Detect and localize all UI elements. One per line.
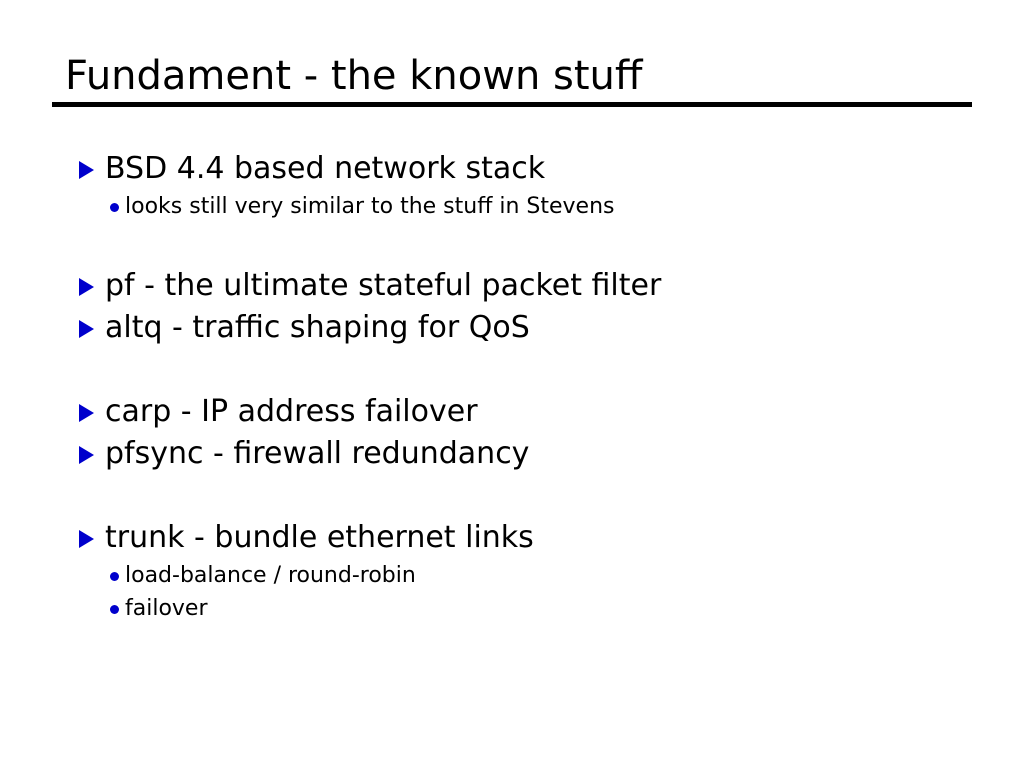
- bullet-group-1: BSD 4.4 based network stack looks still …: [0, 148, 1024, 223]
- bullet-item-carp: carp - IP address failover: [0, 391, 1024, 433]
- bullet-label: pf - the ultimate stateful packet filter: [105, 268, 661, 303]
- bullet-label: BSD 4.4 based network stack: [105, 151, 545, 186]
- triangle-bullet-icon: [79, 320, 94, 338]
- triangle-bullet-icon: [79, 278, 94, 296]
- bullet-item-pf: pf - the ultimate stateful packet filter: [0, 265, 1024, 307]
- slide-canvas: Fundament - the known stuff BSD 4.4 base…: [0, 0, 1024, 768]
- dot-bullet-icon: [110, 605, 119, 614]
- triangle-bullet-icon: [79, 161, 94, 179]
- bullet-group-3: carp - IP address failover pfsync - fire…: [0, 391, 1024, 475]
- bullet-label: carp - IP address failover: [105, 394, 478, 429]
- triangle-bullet-icon: [79, 404, 94, 422]
- dot-bullet-icon: [110, 203, 119, 212]
- sub-bullet-list-4: load-balance / round-robin failover: [0, 559, 1024, 625]
- sub-bullet-item-failover: failover: [0, 592, 1024, 625]
- slide-body: BSD 4.4 based network stack looks still …: [0, 148, 1024, 625]
- sub-bullet-label: load-balance / round-robin: [125, 563, 416, 588]
- bullet-item-pfsync: pfsync - firewall redundancy: [0, 433, 1024, 475]
- bullet-item-trunk: trunk - bundle ethernet links: [0, 517, 1024, 559]
- triangle-bullet-icon: [79, 446, 94, 464]
- sub-bullet-label: looks still very similar to the stuff in…: [125, 194, 615, 219]
- bullet-label: pfsync - firewall redundancy: [105, 436, 529, 471]
- bullet-label: trunk - bundle ethernet links: [105, 520, 534, 555]
- bullet-item-altq: altq - traffic shaping for QoS: [0, 307, 1024, 349]
- sub-bullet-label: failover: [125, 596, 208, 621]
- dot-bullet-icon: [110, 572, 119, 581]
- sub-bullet-list-1: looks still very similar to the stuff in…: [0, 190, 1024, 223]
- bullet-group-4: trunk - bundle ethernet links load-balan…: [0, 517, 1024, 625]
- sub-bullet-item-load-balance: load-balance / round-robin: [0, 559, 1024, 592]
- page-title: Fundament - the known stuff: [52, 52, 972, 100]
- title-block: Fundament - the known stuff: [52, 52, 972, 107]
- title-divider: [52, 102, 972, 107]
- sub-bullet-item-stevens: looks still very similar to the stuff in…: [0, 190, 1024, 223]
- triangle-bullet-icon: [79, 530, 94, 548]
- bullet-label: altq - traffic shaping for QoS: [105, 310, 530, 345]
- bullet-item-bsd: BSD 4.4 based network stack: [0, 148, 1024, 190]
- bullet-group-2: pf - the ultimate stateful packet filter…: [0, 265, 1024, 349]
